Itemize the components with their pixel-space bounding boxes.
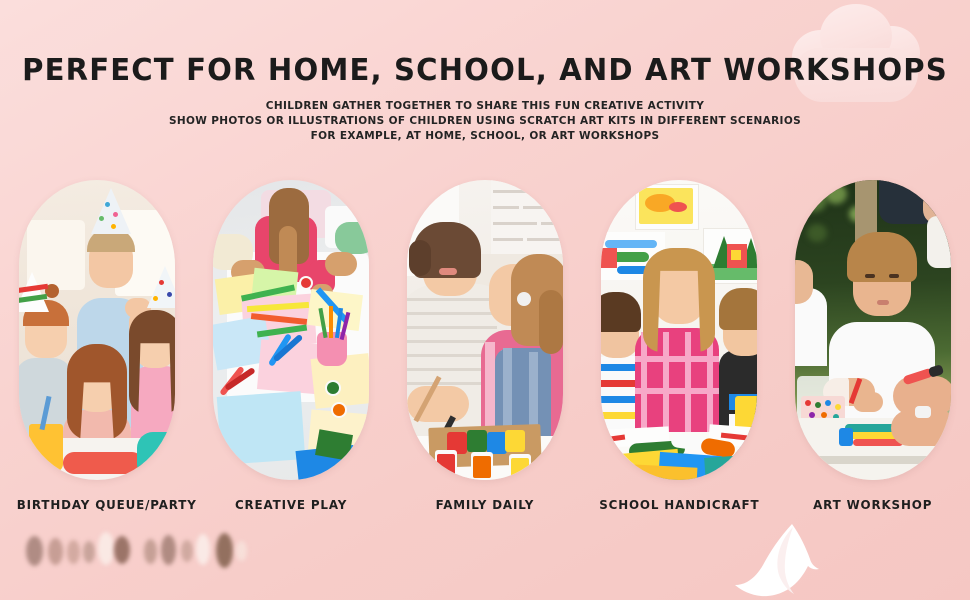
dove-icon <box>730 518 840 600</box>
caption-row: BIRTHDAY QUEUE/PARTY CREATIVE PLAY FAMIL… <box>0 494 970 524</box>
photo-family-daily <box>407 180 563 480</box>
subtitle-line-2: SHOW PHOTOS OR ILLUSTRATIONS OF CHILDREN… <box>0 114 970 129</box>
promo-banner: PERFECT FOR HOME, SCHOOL, AND ART WORKSH… <box>0 0 970 600</box>
photo-card-school-handicraft[interactable] <box>601 180 757 480</box>
photo-birthday-party <box>19 180 175 480</box>
caption-cell: SCHOOL HANDICRAFT <box>594 494 764 524</box>
caption-school-handicraft: SCHOOL HANDICRAFT <box>599 497 759 512</box>
caption-cell: FAMILY DAILY <box>400 494 570 524</box>
gallery-cell <box>206 180 376 480</box>
photo-art-workshop <box>795 180 951 480</box>
photo-card-creative-play[interactable] <box>213 180 369 480</box>
caption-art-workshop: ART WORKSHOP <box>813 497 932 512</box>
gallery-cell <box>400 180 570 480</box>
caption-birthday-queue-party: BIRTHDAY QUEUE/PARTY <box>17 497 197 512</box>
photo-creative-play <box>213 180 369 480</box>
headline-block: PERFECT FOR HOME, SCHOOL, AND ART WORKSH… <box>0 0 970 144</box>
photo-card-birthday-party[interactable] <box>19 180 175 480</box>
subtitle-block: CHILDREN GATHER TOGETHER TO SHARE THIS F… <box>0 86 970 144</box>
photo-school-handicraft <box>601 180 757 480</box>
caption-creative-play: CREATIVE PLAY <box>235 497 347 512</box>
caption-cell: ART WORKSHOP <box>788 494 958 524</box>
gallery-cell <box>594 180 764 480</box>
photo-gallery <box>0 180 970 480</box>
caption-cell: CREATIVE PLAY <box>206 494 376 524</box>
bokeh-dots-decoration <box>24 522 254 586</box>
subtitle-line-1: CHILDREN GATHER TOGETHER TO SHARE THIS F… <box>0 99 970 114</box>
subtitle-line-3: FOR EXAMPLE, AT HOME, SCHOOL, OR ART WOR… <box>0 129 970 144</box>
caption-cell: BIRTHDAY QUEUE/PARTY <box>12 494 182 524</box>
photo-card-family-daily[interactable] <box>407 180 563 480</box>
gallery-cell <box>788 180 958 480</box>
page-title: PERFECT FOR HOME, SCHOOL, AND ART WORKSH… <box>15 0 956 86</box>
gallery-cell <box>12 180 182 480</box>
photo-card-art-workshop[interactable] <box>795 180 951 480</box>
caption-family-daily: FAMILY DAILY <box>436 497 535 512</box>
